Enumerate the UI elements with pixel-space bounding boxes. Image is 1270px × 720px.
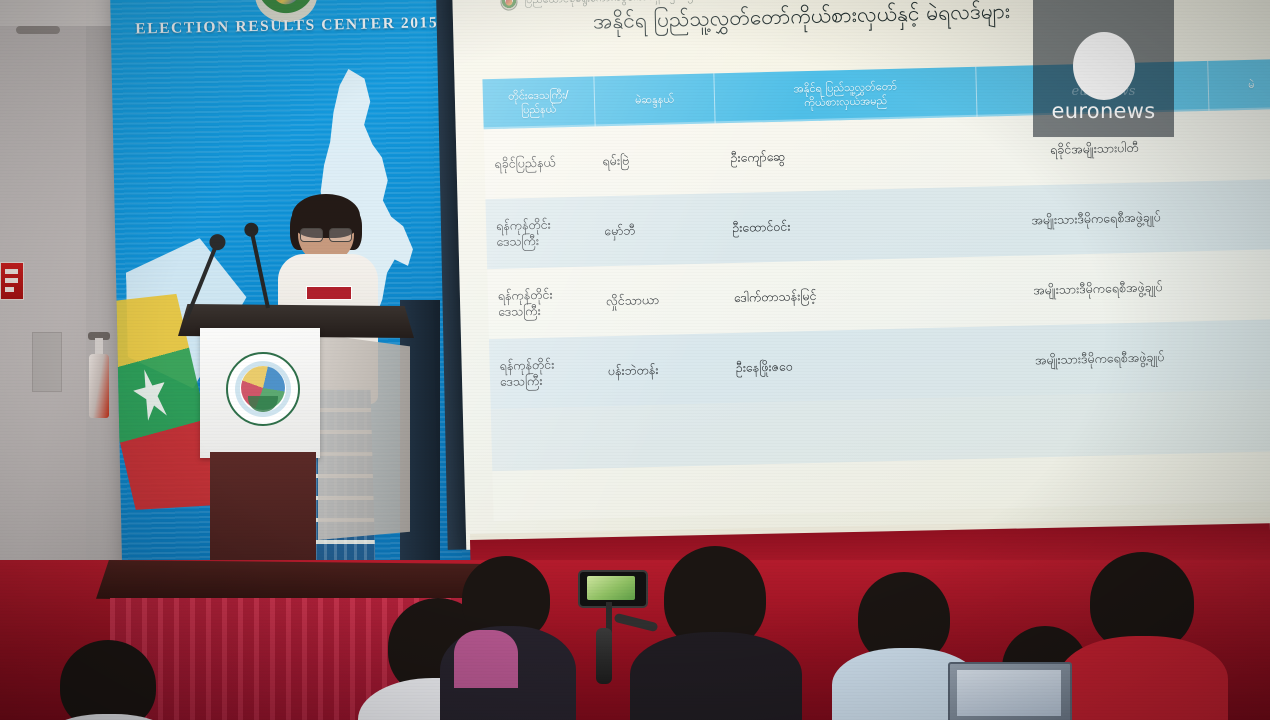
column-header-constituency: မဲဆန္ဒနယ်: [594, 73, 715, 126]
cell-region: ရန်ကုန်တိုင်း ဒေသကြီး: [489, 355, 602, 390]
podium: [178, 300, 414, 600]
euronews-wordmark: euronews: [1033, 99, 1174, 123]
podium-front-panel: [200, 328, 320, 458]
podium-side-panel: [318, 334, 410, 540]
euronews-logo: euronews euronews: [1033, 0, 1174, 137]
eyeglasses-icon: [300, 228, 352, 240]
smartphone-on-gimbal-icon: [570, 570, 650, 690]
cell-region: ရခိုင်ပြည်နယ်: [484, 153, 596, 172]
cell-party: အမျိုးသားဒီမိုကရေစီအဖွဲ့ချုပ်: [982, 278, 1214, 300]
cell-constituency: ပန်းဘဲတန်း: [602, 360, 722, 379]
fire-extinguisher-icon: [86, 330, 112, 418]
speaker-name-badge: [306, 286, 352, 300]
door-handle: [16, 26, 60, 34]
cell-candidate: ဒေါက်တာသန်းမြင့်: [720, 284, 982, 307]
cell-region: ရန်ကုန်တိုင်း ဒေသကြီး: [488, 285, 601, 320]
banner-title: ELECTION RESULTS CENTER 2015: [111, 14, 463, 39]
cell-constituency: လှိုင်သာယာ: [600, 290, 720, 309]
open-laptop-icon: [948, 662, 1068, 720]
cell-votes: [1210, 144, 1270, 146]
cell-constituency: ရမ်းဗြဲ: [596, 150, 716, 169]
union-election-commission-emblem-icon: [226, 352, 300, 426]
euronews-circle-logo-icon: [1073, 32, 1135, 100]
cell-candidate: ဦးကျော်ဆွေ: [716, 144, 978, 167]
column-header-region: တိုင်းဒေသကြီး/ ပြည်နယ်: [482, 76, 595, 129]
cell-constituency: မှော်ဘီ: [598, 220, 718, 239]
cell-party: အမျိုးသားဒီမိုကရေစီအဖွဲ့ချုပ်: [980, 208, 1212, 230]
cell-party: ရခိုင်အမျိုးသားပါတီ: [978, 138, 1210, 160]
column-header-candidate: အနိုင်ရ ပြည်သူ့လွှတ်တော် ကိုယ်စားလှယ်အမည…: [714, 67, 977, 124]
cell-region: ရန်ကုန်တိုင်း ဒေသကြီး: [486, 215, 599, 250]
exit-sign-icon: [0, 262, 24, 300]
cell-candidate: ဦးထောင်ဝင်း: [718, 214, 980, 237]
cell-candidate: ဦးနေဖြိုးဇဝေ: [722, 354, 984, 377]
cell-votes: [1212, 214, 1270, 216]
commission-seal-small-icon: [500, 0, 517, 10]
cell-party: အမျိုးသားဒီမိုကရေစီအဖွဲ့ချုပ်: [984, 348, 1216, 370]
cell-votes: [1216, 354, 1270, 356]
column-header-votes: မဲ: [1208, 59, 1270, 111]
broadcast-frame: ELECTION RESULTS CENTER 2015 ပြည်ထောင်စု…: [0, 0, 1270, 720]
cell-votes: [1214, 284, 1270, 286]
wall-plate: [32, 332, 62, 392]
